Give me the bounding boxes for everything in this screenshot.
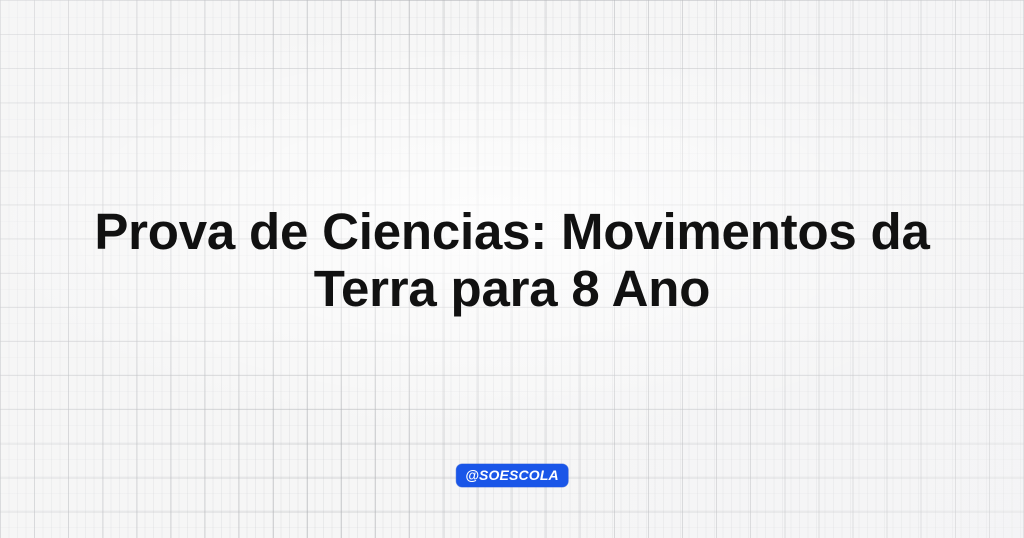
watermark-badge: @SOESCOLA [456, 464, 568, 487]
page-title: Prova de Ciencias: Movimentos da Terra p… [62, 203, 962, 317]
page-title-line-1: Prova de Ciencias: Movimentos da [94, 203, 929, 260]
page-title-line-2: Terra para 8 Ano [314, 260, 710, 317]
page-canvas: Prova de Ciencias: Movimentos da Terra p… [0, 0, 1024, 538]
watermark-badge-label: @SOESCOLA [465, 467, 559, 483]
title-block: Prova de Ciencias: Movimentos da Terra p… [0, 203, 1024, 317]
